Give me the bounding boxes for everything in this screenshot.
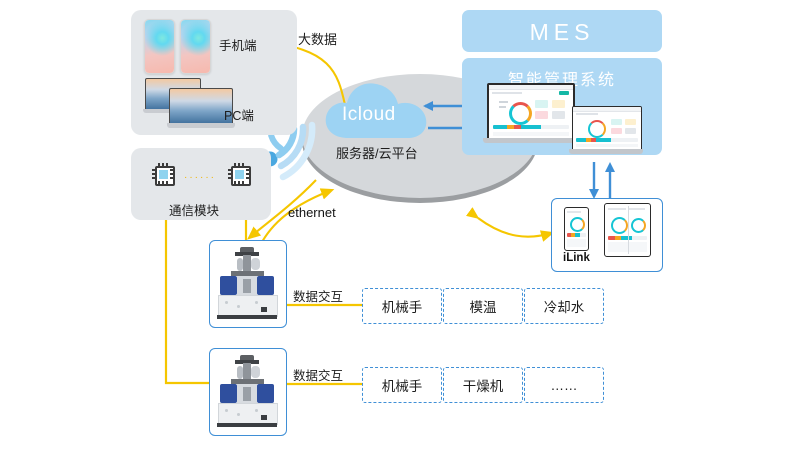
device-box-label: 机械手 [382, 296, 423, 316]
mes-title: MES [462, 19, 662, 46]
laptop-base [569, 149, 643, 154]
up-arrow-head [605, 162, 615, 172]
device-box-label: 模温 [470, 296, 497, 316]
communication-module-label: 通信模块 [169, 205, 219, 218]
device-box-label: 冷却水 [544, 296, 585, 316]
device-box-label: 干燥机 [463, 375, 504, 395]
mobile-label: 手机端 [219, 40, 257, 53]
data-exchange-label-2: 数据交互 [293, 370, 343, 383]
mobile-phone-2 [180, 19, 211, 74]
mes-dashboard-small [572, 106, 642, 151]
ilink-phone-small [564, 207, 589, 251]
mes-dashboard-large [487, 83, 575, 142]
chip-icon-2 [228, 163, 250, 185]
chip-icon-1 [152, 163, 174, 185]
device-box-dryer[interactable]: 干燥机 [443, 367, 523, 403]
data-exchange-label-1: 数据交互 [293, 291, 343, 304]
ilink-label: iLink [563, 252, 590, 264]
laptop-base [167, 123, 235, 128]
mes-laptop-large [483, 83, 575, 147]
phone-screen [145, 20, 174, 73]
laptop-base [483, 138, 575, 143]
bigdata-label: 大数据 [298, 33, 337, 46]
mes-laptop-small [569, 106, 643, 156]
mes-title-panel: MES [462, 10, 662, 52]
status-bar [576, 138, 638, 142]
device-box-label: 机械手 [382, 375, 423, 395]
donut-chart [611, 217, 628, 234]
cloud-label: Icloud [342, 104, 396, 126]
left-arrow-head [423, 101, 433, 111]
cloud-caption: 服务器/云平台 [336, 147, 418, 160]
device-box-cooling-water[interactable]: 冷却水 [524, 288, 604, 324]
diagram-canvas: 手机端 PC端 ······ [0, 0, 800, 450]
arrow-cloud-to-ilink [478, 218, 552, 237]
status-bar [493, 125, 569, 129]
mes-ilink-exchange-arrows [585, 160, 625, 202]
device-box-mold-temp[interactable]: 模温 [443, 288, 523, 324]
device-box-robot-2[interactable]: 机械手 [362, 367, 442, 403]
donut-chart [631, 218, 646, 233]
injection-machine-image-2 [215, 353, 279, 429]
device-box-more[interactable]: …… [524, 367, 604, 403]
donut-chart [509, 102, 532, 125]
device-box-robot-1[interactable]: 机械手 [362, 288, 442, 324]
pc-label: PC端 [224, 110, 254, 123]
comm-dots: ······ [184, 172, 216, 183]
injection-machine-image-1 [215, 245, 279, 321]
ilink-phone-large [604, 203, 651, 257]
donut-chart [570, 217, 585, 232]
phone-screen [181, 20, 210, 73]
device-box-label: …… [551, 378, 578, 393]
ethernet-label: ethernet [288, 205, 336, 220]
mobile-phone-1 [144, 19, 175, 74]
donut-chart [588, 120, 606, 138]
